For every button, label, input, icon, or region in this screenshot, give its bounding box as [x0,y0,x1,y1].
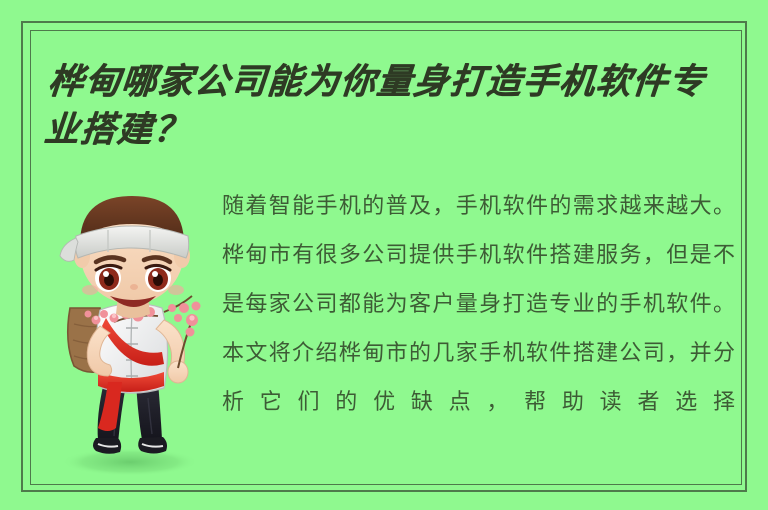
article-body: 随着智能手机的普及，手机软件的需求越来越大。桦甸市有很多公司提供手机软件搭建服务… [222,182,736,482]
page-title: 桦甸哪家公司能为你量身打造手机软件专业搭建？ [42,58,740,154]
poster-canvas: 桦甸哪家公司能为你量身打造手机软件专业搭建？ [0,0,768,510]
mascot-head [60,196,190,307]
mascot-illustration [52,186,220,478]
mascot-ground-shadow [62,448,198,476]
